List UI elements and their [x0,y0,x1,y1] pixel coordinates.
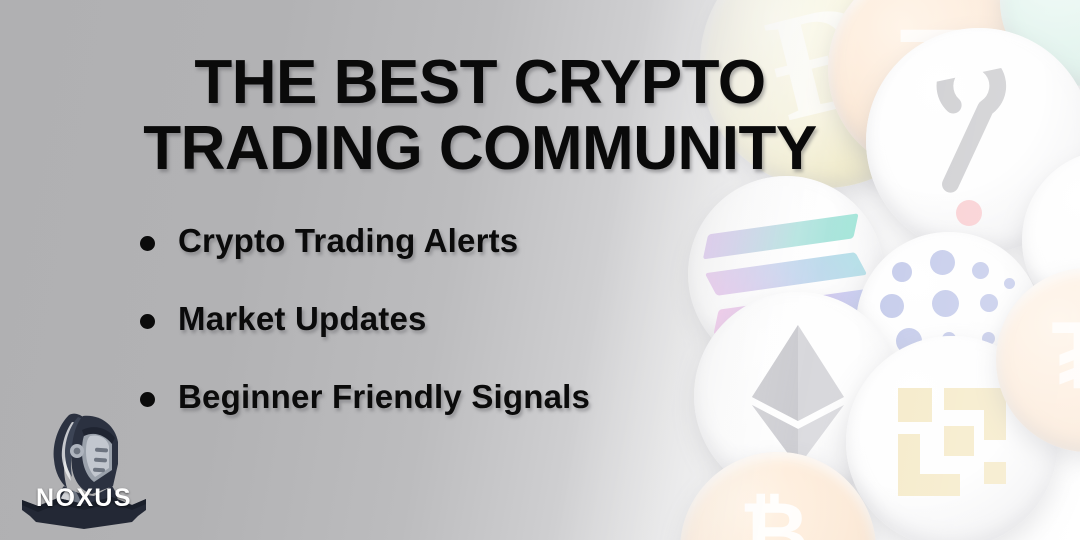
noxus-logo: NOXUS [20,398,148,530]
bullet-dot-icon [140,314,155,329]
bullet-dot-icon [140,236,155,251]
list-item: Market Updates [128,300,748,338]
list-item-label: Market Updates [178,300,427,337]
feature-list: Crypto Trading Alerts Market Updates Beg… [128,222,748,456]
banner-content: THE BEST CRYPTO TRADING COMMUNITY Crypto… [0,0,1080,540]
list-item-label: Beginner Friendly Signals [178,378,590,415]
list-item: Crypto Trading Alerts [128,222,748,260]
promo-banner: Ð ₮ [0,0,1080,540]
page-title: THE BEST CRYPTO TRADING COMMUNITY [0,50,960,183]
list-item-label: Crypto Trading Alerts [178,222,518,259]
knight-helmet-icon [20,398,148,530]
list-item: Beginner Friendly Signals [128,378,748,416]
